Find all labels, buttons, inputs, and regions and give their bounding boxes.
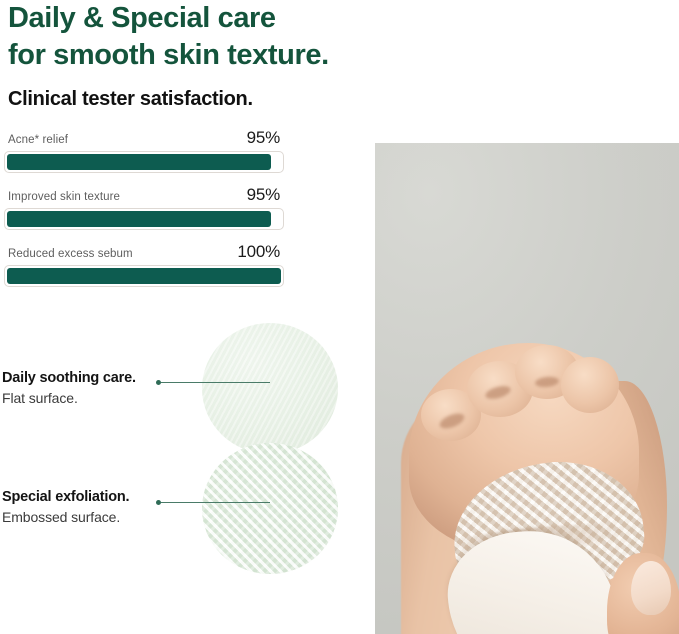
embossed-surface-pad bbox=[202, 443, 338, 574]
progress-track bbox=[4, 151, 284, 173]
callout-subtitle: Flat surface. bbox=[2, 389, 136, 408]
stat-header: Reduced excess sebum 100% bbox=[4, 242, 284, 265]
headline-line-1: Daily & Special care bbox=[8, 0, 408, 37]
stat-value: 95% bbox=[247, 128, 280, 148]
callout-title: Special exfoliation. bbox=[2, 488, 129, 508]
stat-value: 100% bbox=[237, 242, 280, 262]
progress-fill bbox=[7, 211, 271, 227]
callout-subtitle: Embossed surface. bbox=[2, 508, 129, 527]
stat-label: Improved skin texture bbox=[8, 191, 120, 203]
stat-row-reduced-excess-sebum: Reduced excess sebum 100% bbox=[4, 242, 284, 287]
stat-label: Reduced excess sebum bbox=[8, 248, 133, 260]
stat-row-acne-relief: Acne* relief 95% bbox=[4, 128, 284, 173]
pad-comparison: Daily soothing care. Flat surface. Speci… bbox=[0, 310, 360, 600]
progress-fill bbox=[7, 268, 281, 284]
callout-daily-soothing-care: Daily soothing care. Flat surface. bbox=[2, 369, 136, 407]
leader-line-segment bbox=[161, 502, 270, 503]
leader-line-embossed bbox=[156, 498, 270, 507]
stat-label: Acne* relief bbox=[8, 134, 68, 146]
thumbnail bbox=[631, 561, 671, 615]
satisfaction-chart: Acne* relief 95% Improved skin texture 9… bbox=[4, 128, 284, 299]
progress-fill bbox=[7, 154, 271, 170]
stat-row-improved-skin-texture: Improved skin texture 95% bbox=[4, 185, 284, 230]
section-heading-satisfaction: Clinical tester satisfaction. bbox=[8, 88, 368, 111]
product-detail-page: Daily & Special care for smooth skin tex… bbox=[0, 0, 679, 634]
product-photo bbox=[375, 143, 679, 634]
leader-line-segment bbox=[161, 382, 270, 383]
stat-value: 95% bbox=[247, 185, 280, 205]
callout-title: Daily soothing care. bbox=[2, 369, 136, 389]
page-title: Daily & Special care for smooth skin tex… bbox=[8, 0, 408, 74]
progress-track bbox=[4, 208, 284, 230]
leader-line-flat bbox=[156, 378, 270, 387]
stat-header: Improved skin texture 95% bbox=[4, 185, 284, 208]
headline-line-2: for smooth skin texture. bbox=[8, 37, 408, 74]
callout-special-exfoliation: Special exfoliation. Embossed surface. bbox=[2, 488, 129, 526]
progress-track bbox=[4, 265, 284, 287]
flat-surface-pad bbox=[202, 323, 338, 454]
knuckle bbox=[561, 357, 619, 413]
stat-header: Acne* relief 95% bbox=[4, 128, 284, 151]
